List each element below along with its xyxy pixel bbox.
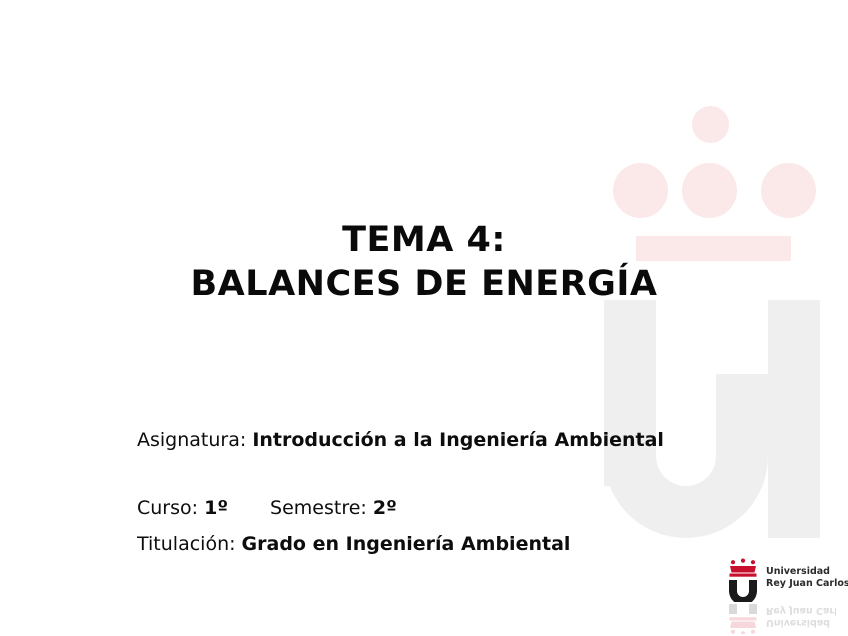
title-line-2: BALANCES DE ENERGÍA <box>0 262 848 306</box>
urjc-logo: Universidad Rey Juan Carlos <box>726 558 836 604</box>
slide-canvas: TEMA 4: BALANCES DE ENERGÍA Asignatura: … <box>0 0 848 636</box>
watermark-crown-dot-right <box>761 163 816 218</box>
title-line-1: TEMA 4: <box>0 218 848 262</box>
semestre-value: 2º <box>373 497 397 519</box>
curso-value: 1º <box>204 497 228 519</box>
urjc-logo-line2: Rey Juan Carlos <box>766 578 848 590</box>
slide-title: TEMA 4: BALANCES DE ENERGÍA <box>0 218 848 306</box>
asignatura-value: Introducción a la Ingeniería Ambiental <box>252 429 664 451</box>
curso-label: Curso: <box>137 497 204 519</box>
letter-u-glyph-reflection <box>729 604 757 614</box>
titulacion-label: Titulación: <box>137 533 242 555</box>
urjc-logo-text-reflection: Universidad Rey Juan Carlos <box>766 605 836 628</box>
watermark-crown-dot-top <box>692 106 729 143</box>
urjc-logo-mark-reflection <box>726 604 760 634</box>
urjc-logo-reflection: Universidad Rey Juan Carlos <box>726 604 836 634</box>
info-spacer <box>137 453 777 495</box>
semestre-label: Semestre: <box>270 497 373 519</box>
urjc-logo-mark <box>726 558 760 602</box>
course-info-block: Asignatura: Introducción a la Ingeniería… <box>137 427 777 557</box>
watermark-crown-dot-left <box>613 163 668 218</box>
crown-icon-reflection <box>730 617 757 634</box>
titulacion-value: Grado en Ingeniería Ambiental <box>242 533 571 555</box>
watermark-crown-dot-center <box>682 163 737 218</box>
urjc-logo-line2-reflection: Rey Juan Carlos <box>766 605 836 617</box>
asignatura-label: Asignatura: <box>137 429 252 451</box>
urjc-logo-line1-reflection: Universidad <box>766 617 836 629</box>
info-row-curso-semestre: Curso: 1ºSemestre: 2º <box>137 495 777 521</box>
urjc-logo-text: Universidad Rey Juan Carlos <box>766 566 848 589</box>
crown-icon <box>730 559 757 577</box>
info-row-titulacion: Titulación: Grado en Ingeniería Ambienta… <box>137 531 777 557</box>
info-row-asignatura: Asignatura: Introducción a la Ingeniería… <box>137 427 777 453</box>
letter-u-glyph <box>729 580 757 602</box>
urjc-logo-line1: Universidad <box>766 566 848 578</box>
